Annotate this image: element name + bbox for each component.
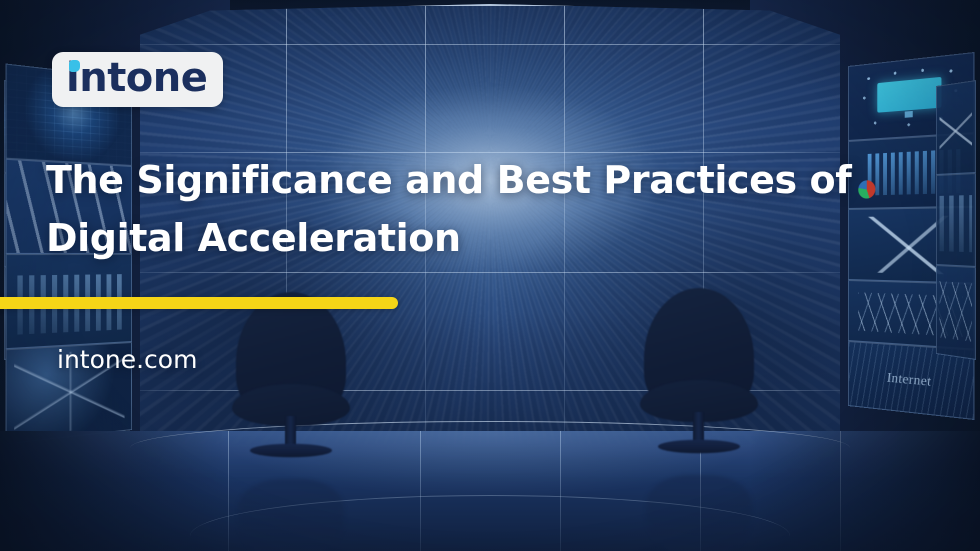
chair-right (640, 288, 758, 458)
chart-tile-far-right (936, 80, 976, 175)
right-far-monitor-stack (936, 80, 976, 360)
page-title-line-2: Digital Acceleration (46, 209, 866, 267)
monitor-stand (905, 111, 912, 118)
chair-right-base (658, 440, 740, 454)
intone-logo[interactable]: intone (52, 52, 223, 107)
i-dot-icon (69, 60, 80, 72)
page-title-line-1: The Significance and Best Practices of (46, 151, 866, 209)
wave-tile-far-right (936, 265, 976, 360)
internet-label-text: Internet (886, 369, 932, 389)
yellow-divider-bar (0, 297, 398, 309)
grid-tile-far-right (936, 173, 976, 266)
monitor-glow (877, 77, 942, 113)
floor-left-shadow (0, 431, 230, 551)
chair-right-reflection (640, 467, 758, 551)
chair-left-reflection (232, 471, 350, 551)
logo-text: intone (66, 55, 207, 101)
chair-left-base (250, 444, 332, 458)
presentation-slide: Internet (0, 0, 980, 551)
website-url[interactable]: intone.com (57, 344, 197, 376)
logo-wordmark: intone (66, 56, 207, 100)
floor-right-shadow (750, 431, 980, 551)
chair-left (232, 292, 350, 462)
page-title: The Significance and Best Practices of D… (46, 151, 866, 267)
reflective-floor (0, 431, 980, 551)
